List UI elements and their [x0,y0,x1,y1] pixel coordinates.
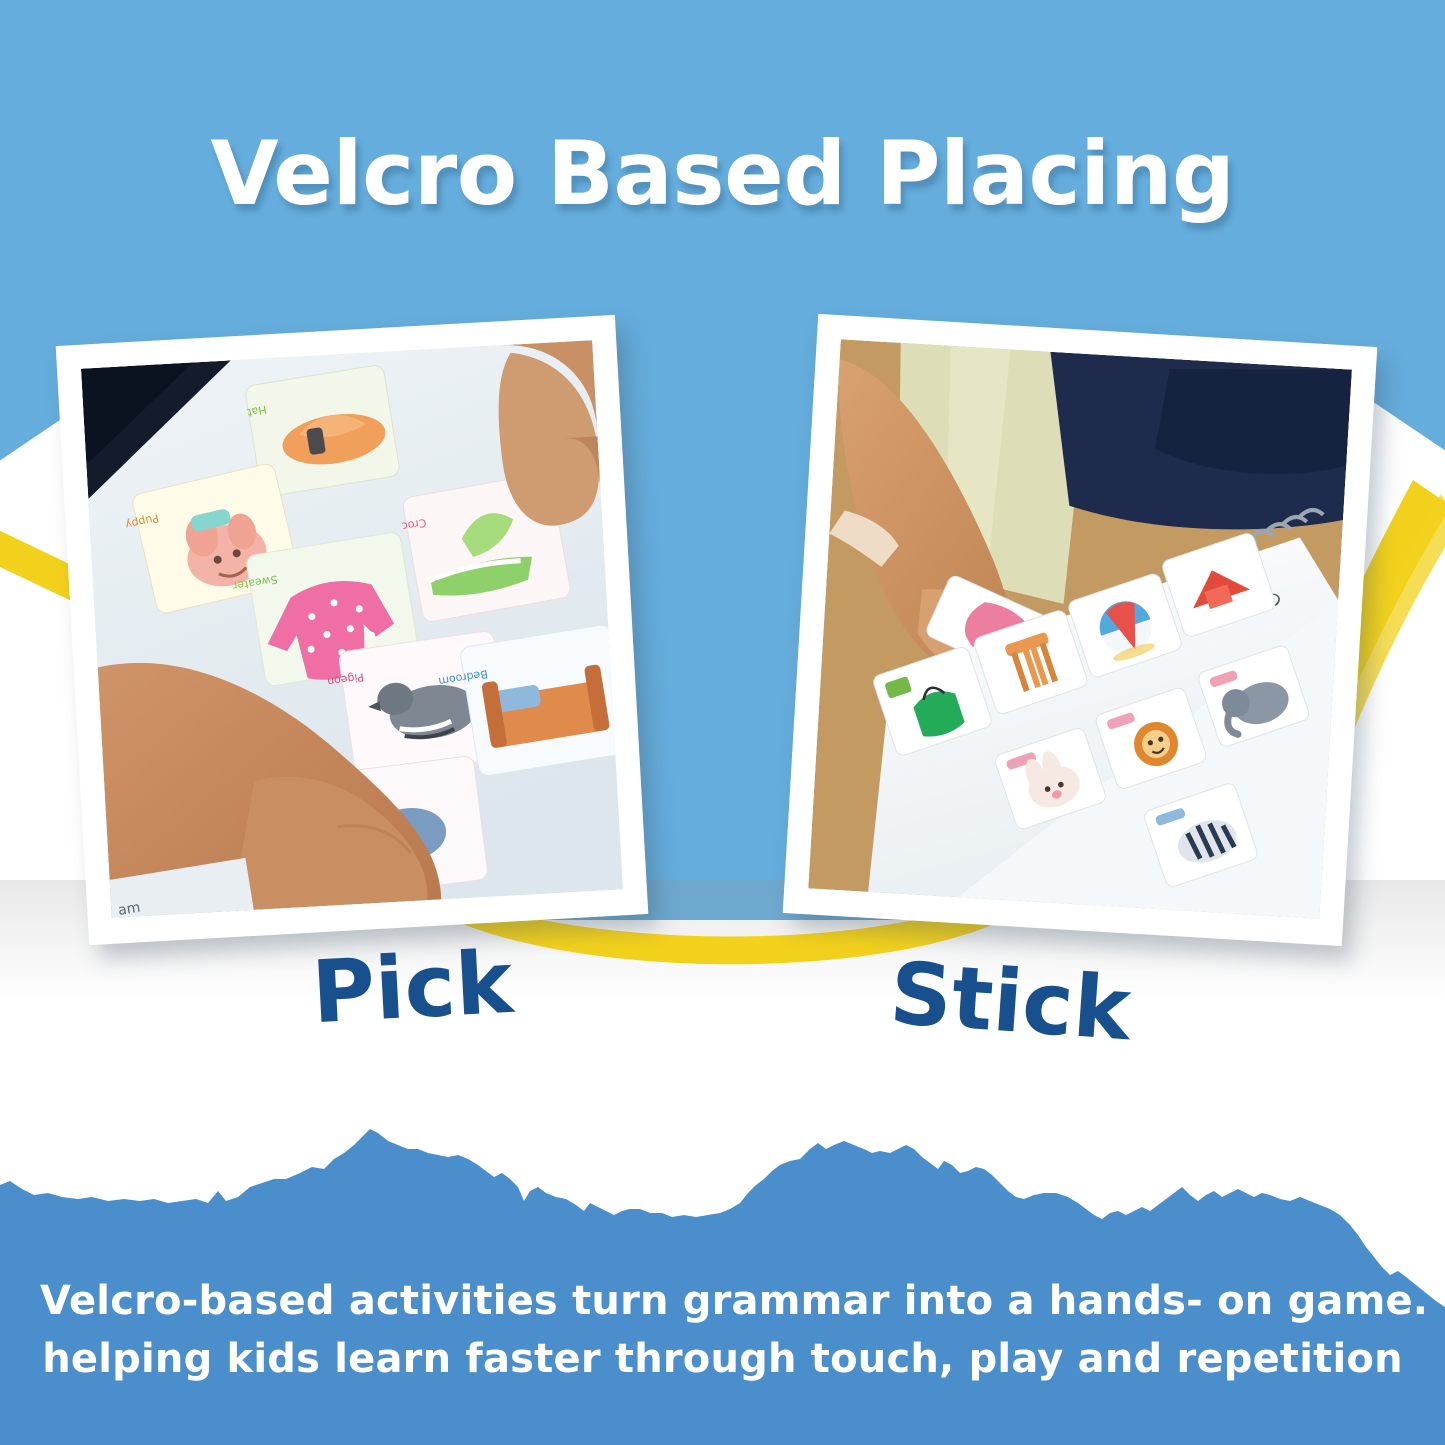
footer-description: Velcro-based activities turn grammar int… [0,1272,1445,1388]
footer-line-1: Velcro-based activities turn grammar int… [40,1272,1405,1330]
poster-canvas: Velcro Based Placing [0,0,1445,1445]
photo-image-stick: Clothing [808,339,1352,918]
photo-image-pick: Hat Puppy [81,340,623,918]
photo-card-pick: Hat Puppy [56,315,649,945]
footer-line-2: helping kids learn faster through touch,… [40,1330,1405,1388]
photo-card-stick: Clothing [783,314,1378,946]
caption-stick: Stick [887,944,1134,1061]
page-title: Velcro Based Placing [0,122,1445,225]
caption-pick: Pick [310,933,516,1043]
svg-text:am: am [117,900,141,918]
